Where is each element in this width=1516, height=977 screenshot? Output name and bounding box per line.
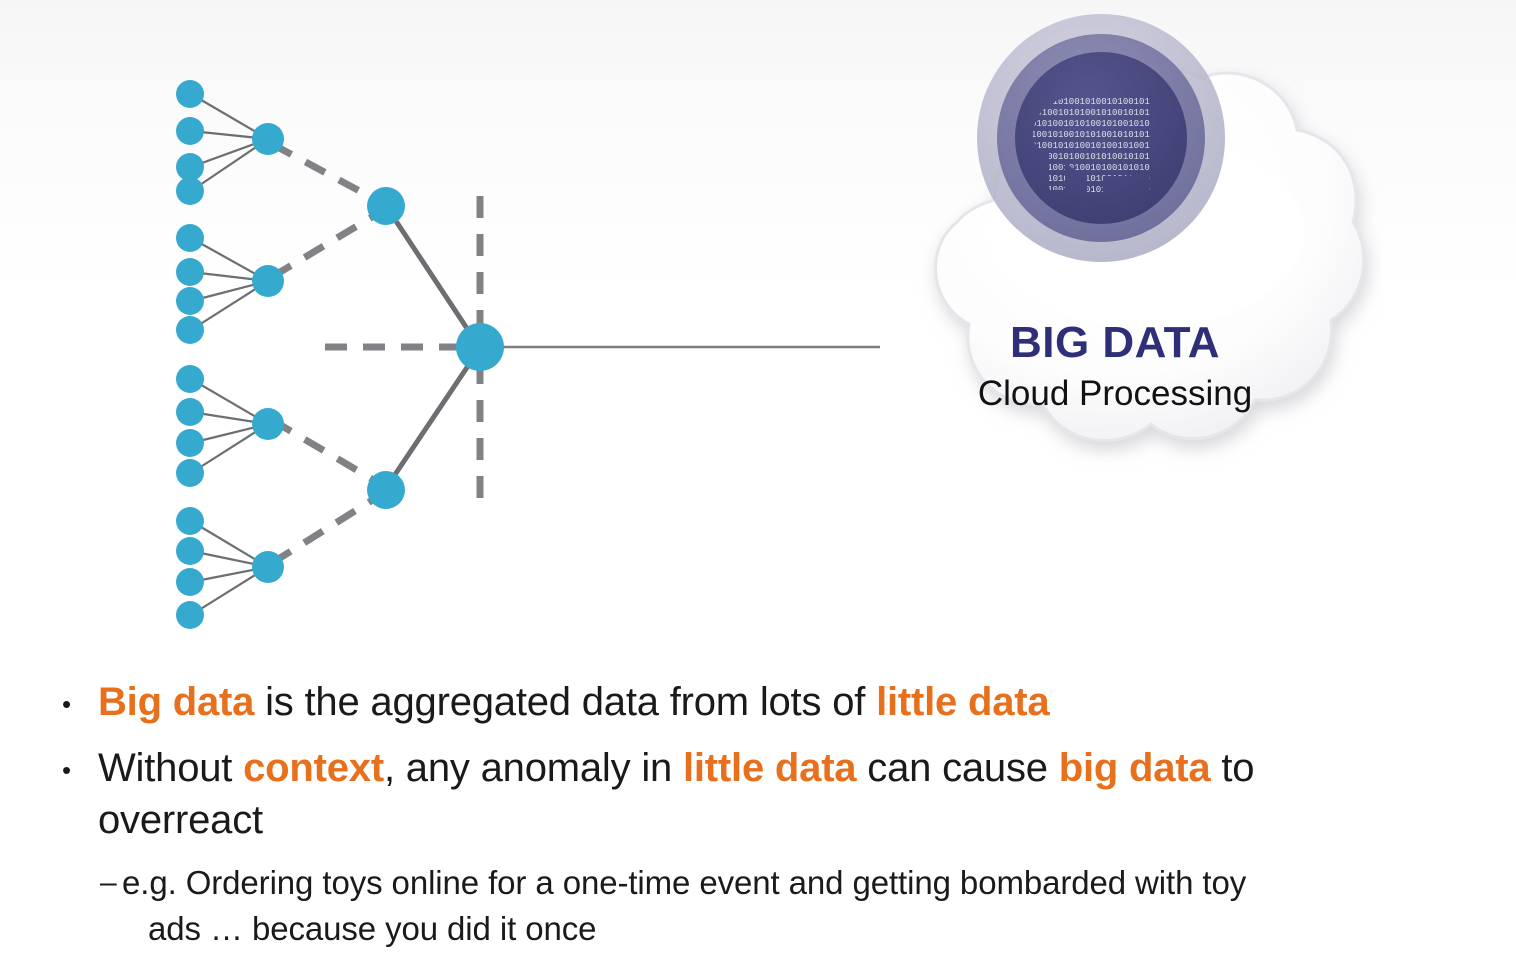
bullet-2-seg-3: little data [683,746,856,790]
bullet-2-seg-5: big data [1059,746,1211,790]
sub-bullet-line-1: e.g. Ordering toys online for a one-time… [122,864,1246,901]
bullet-2-seg-4: can cause [856,746,1058,790]
bullet-text-1: Big data is the aggregated data from lot… [98,676,1049,728]
svg-text:1010010101001010010101: 1010010101001010010101 [1031,108,1150,118]
bullet-1-seg-1: is the aggregated data from lots of [254,680,876,724]
bullet-1-seg-0: Big data [98,680,254,724]
bullet-2-seg-2: , any anomaly in [384,746,683,790]
sub-bullet-text-1: e.g. Ordering toys online for a one-time… [122,860,1246,952]
sub-bullet-line-2: ads … because you did it once [122,906,1246,952]
central-hub-node [456,323,504,371]
leaf-nodes [176,80,204,629]
sub-bullet-marker [100,860,122,906]
bullet-marker [56,676,98,730]
bullet-item-1: Big data is the aggregated data from lot… [0,676,1516,730]
binary-elephant-svg: 0100101001010010100101 10100101010010100… [975,12,1227,264]
bullet-marker [56,742,98,796]
bullet-text-2: Without context, any anomaly in little d… [98,742,1428,846]
level2-nodes [252,123,284,583]
svg-text:0100101010010100101001: 0100101010010100101001 [1031,141,1150,151]
sub-bullet-item-1: e.g. Ordering toys online for a one-time… [0,860,1516,952]
bullet-1-seg-2: little data [876,680,1049,724]
bullet-list: Big data is the aggregated data from lot… [0,676,1516,952]
slide-canvas: BIG DATA Cloud Processing [0,0,1516,977]
svg-text:1001010010101001010101: 1001010010101001010101 [1031,130,1150,140]
svg-text:0101001010100101001010: 0101001010100101001010 [1031,119,1150,129]
binary-elephant-icon: 0100101001010010100101 10100101010010100… [975,12,1227,264]
bullet-2-seg-0: Without [98,746,243,790]
bullet-item-2: Without context, any anomaly in little d… [0,742,1516,846]
bullet-2-seg-1: context [243,746,384,790]
